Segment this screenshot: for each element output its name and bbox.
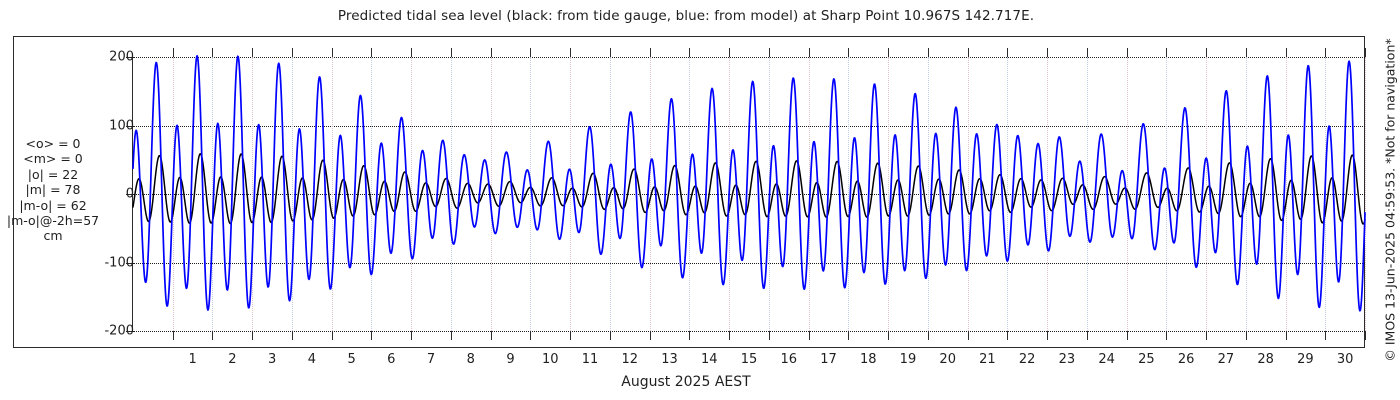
x-axis-tick-top: [252, 48, 253, 57]
x-axis-label: 13: [661, 352, 678, 367]
x-axis-label: 16: [780, 352, 797, 367]
x-axis-label: 2: [228, 352, 236, 367]
x-axis-label: 24: [1098, 352, 1115, 367]
x-axis-tick-top: [570, 48, 571, 57]
x-axis-tick: [371, 331, 372, 340]
x-axis-tick-top: [729, 48, 730, 57]
x-axis-tick: [729, 331, 730, 340]
x-axis-tick: [212, 331, 213, 340]
x-axis-label: 26: [1178, 352, 1195, 367]
x-axis-tick: [1325, 331, 1326, 340]
x-axis-tick-top: [1047, 48, 1048, 57]
x-axis-tick: [530, 331, 531, 340]
x-axis-tick-top: [1166, 48, 1167, 57]
statistics-line: |o| = 22: [0, 167, 108, 182]
x-axis-tick: [411, 331, 412, 340]
x-axis-tick-top: [1007, 48, 1008, 57]
x-axis-tick-top: [1127, 48, 1128, 57]
x-axis-label: 10: [542, 352, 559, 367]
x-axis-label: 12: [621, 352, 638, 367]
x-axis-tick: [610, 331, 611, 340]
x-axis-tick-top: [968, 48, 969, 57]
x-axis-label: 14: [701, 352, 718, 367]
x-axis-tick-top: [173, 48, 174, 57]
x-axis-label: 11: [582, 352, 599, 367]
x-axis-label: 28: [1257, 352, 1274, 367]
x-axis-tick-top: [928, 48, 929, 57]
x-axis-tick: [968, 331, 969, 340]
x-axis-tick: [1206, 331, 1207, 340]
x-axis-tick: [650, 331, 651, 340]
credit-text: © IMOS 13-Jun-2025 04:59:53. *Not for na…: [1383, 38, 1398, 361]
x-axis-tick-top: [292, 48, 293, 57]
x-axis-tick-top: [1286, 48, 1287, 57]
x-axis-label: 4: [308, 352, 316, 367]
x-axis-tick: [1286, 331, 1287, 340]
x-axis-tick-top: [689, 48, 690, 57]
statistics-annotation: <o> = 0<m> = 0|o| = 22|m| = 78|m-o| = 62…: [0, 136, 108, 244]
x-axis-tick: [1246, 331, 1247, 340]
x-axis-tick: [769, 331, 770, 340]
x-axis-label: 20: [939, 352, 956, 367]
x-axis-tick-top: [1325, 48, 1326, 57]
statistics-line: <o> = 0: [0, 136, 108, 151]
x-axis-tick: [491, 331, 492, 340]
x-axis-tick: [1007, 331, 1008, 340]
y-axis-label: 100: [100, 118, 134, 133]
x-axis-tick-top: [451, 48, 452, 57]
x-axis-tick-top: [1365, 48, 1366, 57]
x-axis-tick-top: [491, 48, 492, 57]
x-axis-label: 25: [1138, 352, 1155, 367]
x-axis-tick-top: [848, 48, 849, 57]
x-axis-label: 22: [1019, 352, 1036, 367]
statistics-line: |m| = 78: [0, 182, 108, 197]
x-axis-tick-top: [610, 48, 611, 57]
x-axis-tick: [173, 331, 174, 340]
page-title: Predicted tidal sea level (black: from t…: [0, 8, 1372, 24]
x-axis-tick: [1365, 331, 1366, 340]
x-axis-tick: [332, 331, 333, 340]
x-axis-tick: [252, 331, 253, 340]
x-axis-tick-top: [1087, 48, 1088, 57]
x-axis-tick: [928, 331, 929, 340]
x-axis-label: 19: [900, 352, 917, 367]
x-axis-label: 27: [1218, 352, 1235, 367]
x-axis-label: 29: [1297, 352, 1314, 367]
y-axis-label: -200: [100, 324, 134, 339]
copyright-credit: © IMOS 13-Jun-2025 04:59:53. *Not for na…: [1379, 0, 1400, 400]
statistics-line: cm: [0, 228, 108, 243]
x-axis-label: 18: [860, 352, 877, 367]
x-axis-tick: [292, 331, 293, 340]
x-axis-tick: [1127, 331, 1128, 340]
x-axis-label: 5: [347, 352, 355, 367]
y-axis-label: 200: [100, 50, 134, 65]
x-axis-tick: [1087, 331, 1088, 340]
x-axis-label: 15: [741, 352, 758, 367]
x-axis-tick-top: [530, 48, 531, 57]
x-axis-tick-top: [769, 48, 770, 57]
x-axis-tick-top: [1246, 48, 1247, 57]
statistics-line: |m-o| = 62: [0, 198, 108, 213]
x-axis-label: 9: [506, 352, 514, 367]
y-gridline: [133, 331, 1365, 332]
x-axis-label: 17: [820, 352, 837, 367]
tide-chart-figure: Predicted tidal sea level (black: from t…: [0, 0, 1400, 400]
series-plot: [133, 57, 1365, 331]
x-axis-label: 6: [387, 352, 395, 367]
x-axis-label: 1: [188, 352, 196, 367]
x-axis-tick: [848, 331, 849, 340]
x-axis-label: 8: [467, 352, 475, 367]
x-axis-label: 30: [1337, 352, 1354, 367]
x-axis-label: 7: [427, 352, 435, 367]
x-axis-tick-top: [1206, 48, 1207, 57]
statistics-line: <m> = 0: [0, 151, 108, 166]
x-axis-tick: [570, 331, 571, 340]
x-axis-label: 23: [1059, 352, 1076, 367]
x-axis-tick-top: [371, 48, 372, 57]
x-axis-tick: [809, 331, 810, 340]
x-axis-label: 3: [268, 352, 276, 367]
x-axis-tick-top: [411, 48, 412, 57]
x-gridline: [1365, 57, 1366, 331]
x-axis-tick: [451, 331, 452, 340]
x-axis-tick: [689, 331, 690, 340]
x-axis-tick: [1166, 331, 1167, 340]
x-axis-tick: [1047, 331, 1048, 340]
x-axis-tick-top: [888, 48, 889, 57]
x-axis-tick-top: [212, 48, 213, 57]
x-axis-tick-top: [809, 48, 810, 57]
x-axis-label: 21: [979, 352, 996, 367]
x-axis-tick: [888, 331, 889, 340]
x-axis-tick-top: [650, 48, 651, 57]
x-axis-title: August 2025 AEST: [0, 374, 1372, 390]
y-axis-label: 0: [100, 187, 134, 202]
y-axis-label: -100: [100, 255, 134, 270]
x-axis-tick-top: [332, 48, 333, 57]
statistics-line: |m-o|@-2h=57: [0, 213, 108, 228]
